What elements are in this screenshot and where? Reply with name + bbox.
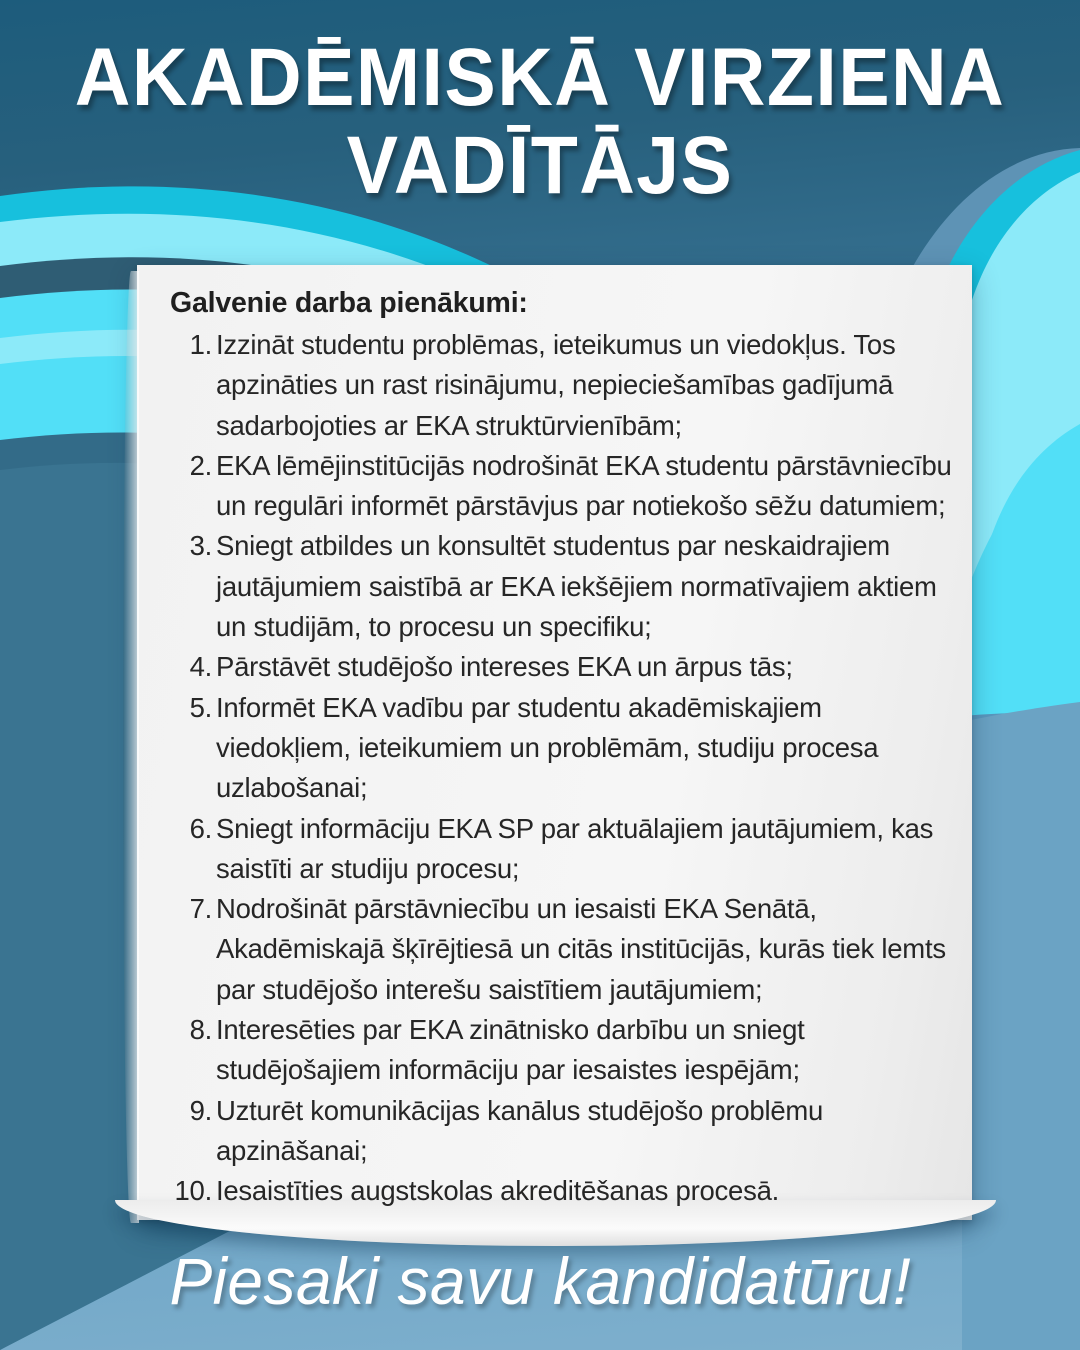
duty-item: Sniegt informāciju EKA SP par aktuālajie… (167, 809, 952, 890)
duty-item: Pārstāvēt studējošo intereses EKA un ārp… (167, 647, 952, 687)
footer-cta: Piesaki savu kandidatūru! (0, 1243, 1080, 1319)
duty-item: Informēt EKA vadību par studentu akadēmi… (167, 688, 952, 809)
duties-card: Galvenie darba pienākumi: Izzināt studen… (137, 265, 972, 1220)
duty-item: Uzturēt komunikācijas kanālus studējošo … (167, 1091, 952, 1172)
title-line-2: VADĪTĀJS (32, 122, 1047, 210)
title-line-1: AKADĒMISKĀ VIRZIENA (32, 34, 1047, 122)
duty-item: Nodrošināt pārstāvniecību un iesaisti EK… (167, 889, 952, 1010)
duty-item: Iesaistīties augstskolas akreditēšanas p… (167, 1171, 952, 1211)
poster-title: AKADĒMISKĀ VIRZIENA VADĪTĀJS (0, 34, 1080, 210)
duty-item: Izzināt studentu problēmas, ieteikumus u… (167, 325, 952, 446)
card-heading: Galvenie darba pienākumi: (167, 283, 952, 323)
duties-list: Izzināt studentu problēmas, ieteikumus u… (167, 325, 952, 1212)
card-content: Galvenie darba pienākumi: Izzināt studen… (167, 283, 952, 1212)
footer-cta-text: Piesaki savu kandidatūru! (169, 1243, 911, 1319)
duty-item: Interesēties par EKA zinātnisko darbību … (167, 1010, 952, 1091)
duty-item: Sniegt atbildes un konsultēt studentus p… (167, 526, 952, 647)
duty-item: EKA lēmējinstitūcijās nodrošināt EKA stu… (167, 446, 952, 527)
poster-canvas: AKADĒMISKĀ VIRZIENA VADĪTĀJS Galvenie da… (0, 0, 1080, 1350)
